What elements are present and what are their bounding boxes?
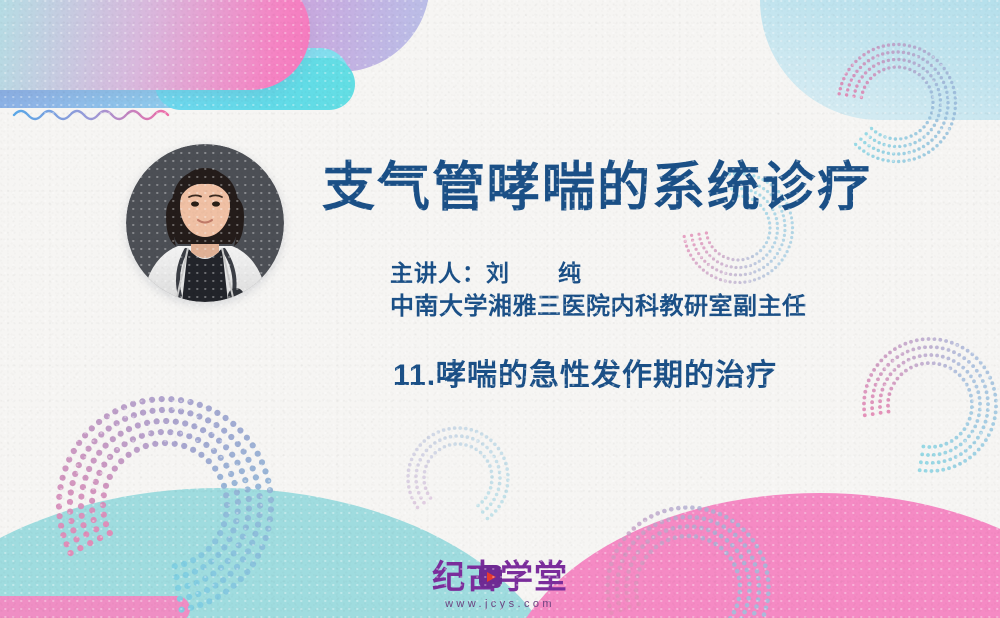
page-title: 支气管哮喘的系统诊疗 (322, 160, 922, 216)
speaker-block: 主讲人：刘 纯 中南大学湘雅三医院内科教研室副主任 (390, 257, 910, 325)
logo-url: www.jcys.com (380, 598, 620, 610)
speaker-name: 主讲人：刘 纯 (390, 257, 910, 290)
speaker-portrait (126, 144, 284, 302)
brand-logo: 纪古学堂 www.jcys.com (380, 560, 620, 610)
section-heading: 11.哮喘的急性发作期的治疗 (393, 350, 777, 394)
speaker-affiliation: 中南大学湘雅三医院内科教研室副主任 (390, 290, 910, 325)
slide-content: 支气管哮喘的系统诊疗 主讲人：刘 纯 中南大学湘雅三医院内科教研室副主任 11.… (0, 0, 1000, 618)
logo-wordmark: 纪古学堂 (432, 560, 568, 593)
slide-canvas: 支气管哮喘的系统诊疗 主讲人：刘 纯 中南大学湘雅三医院内科教研室副主任 11.… (0, 0, 1000, 618)
play-icon (479, 565, 502, 588)
